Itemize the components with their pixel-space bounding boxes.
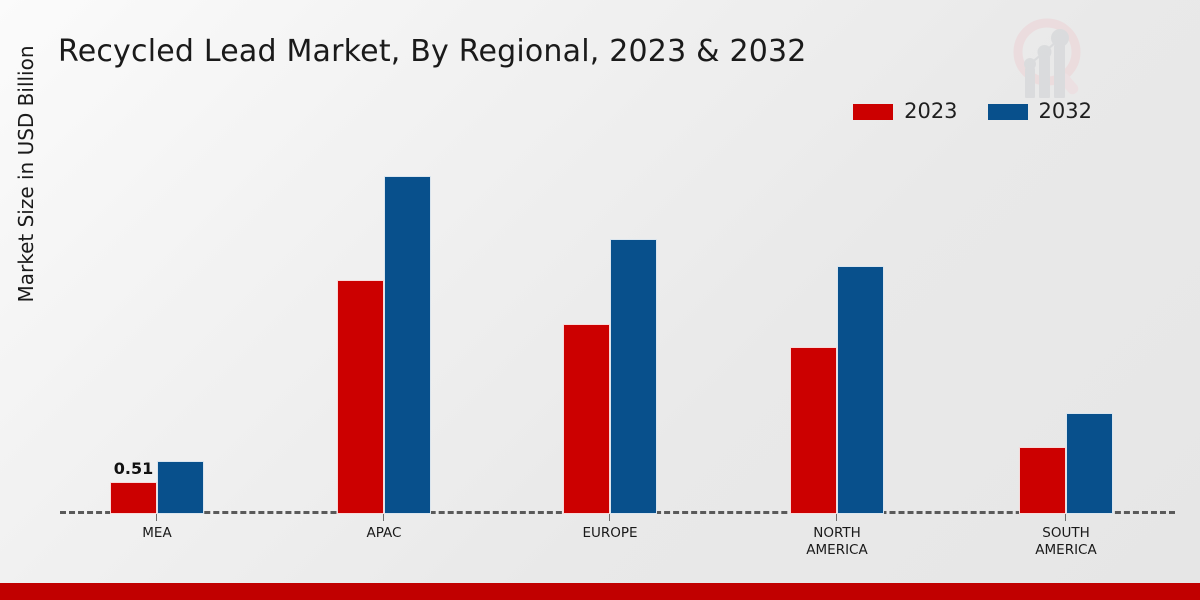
x-label-europe: EUROPE xyxy=(540,525,680,542)
bar-2032-south-america[interactable] xyxy=(1066,413,1113,514)
footer-accent-bar xyxy=(0,583,1200,600)
x-tick-apac xyxy=(383,514,384,521)
legend-label-2023: 2023 xyxy=(904,101,957,122)
bar-2023-mea[interactable] xyxy=(110,482,157,514)
legend-swatch-2032 xyxy=(988,104,1028,120)
bar-group-apac: APAC xyxy=(337,140,431,514)
x-tick-north-america xyxy=(836,514,837,521)
x-label-apac-line1: APAC xyxy=(314,525,454,542)
bar-2032-europe[interactable] xyxy=(610,239,657,514)
bar-2023-europe[interactable] xyxy=(563,324,610,514)
x-tick-south-america xyxy=(1065,514,1066,521)
legend-item-2023[interactable]: 2023 xyxy=(853,101,957,122)
x-label-europe-line1: EUROPE xyxy=(540,525,680,542)
y-axis-title: Market Size in USD Billion xyxy=(14,14,38,334)
legend-swatch-2023 xyxy=(853,104,893,120)
chart-title: Recycled Lead Market, By Regional, 2023 … xyxy=(58,34,807,69)
x-label-south-america: SOUTH AMERICA xyxy=(996,525,1136,560)
bar-2032-mea[interactable] xyxy=(157,461,204,514)
x-label-south-america-line1: SOUTH xyxy=(996,525,1136,542)
bar-2023-apac[interactable] xyxy=(337,280,384,514)
bar-group-north-america: NORTH AMERICA xyxy=(790,140,884,514)
x-label-north-america: NORTH AMERICA xyxy=(767,525,907,560)
bar-group-mea: 0.51 MEA xyxy=(110,140,204,514)
legend-item-2032[interactable]: 2032 xyxy=(988,101,1092,122)
x-label-north-america-line1: NORTH xyxy=(767,525,907,542)
watermark-logo-icon xyxy=(995,12,1100,100)
x-label-north-america-line2: AMERICA xyxy=(767,542,907,559)
bar-group-europe: EUROPE xyxy=(563,140,657,514)
bar-2032-north-america[interactable] xyxy=(837,266,884,514)
bar-2023-north-america[interactable] xyxy=(790,347,837,514)
plot-area: 0.51 MEA APAC EUROPE xyxy=(60,140,1175,514)
x-label-south-america-line2: AMERICA xyxy=(996,542,1136,559)
bar-group-south-america: SOUTH AMERICA xyxy=(1019,140,1113,514)
bar-2023-south-america[interactable] xyxy=(1019,447,1066,514)
x-tick-europe xyxy=(609,514,610,521)
bar-value-2023-mea: 0.51 xyxy=(110,459,157,478)
bar-2032-apac[interactable] xyxy=(384,176,431,514)
x-tick-mea xyxy=(156,514,157,521)
x-label-mea: MEA xyxy=(87,525,227,542)
chart-container: Recycled Lead Market, By Regional, 2023 … xyxy=(0,0,1200,600)
legend-label-2032: 2032 xyxy=(1039,101,1092,122)
chart-legend: 2023 2032 xyxy=(853,101,1092,122)
x-label-apac: APAC xyxy=(314,525,454,542)
x-label-mea-line1: MEA xyxy=(87,525,227,542)
